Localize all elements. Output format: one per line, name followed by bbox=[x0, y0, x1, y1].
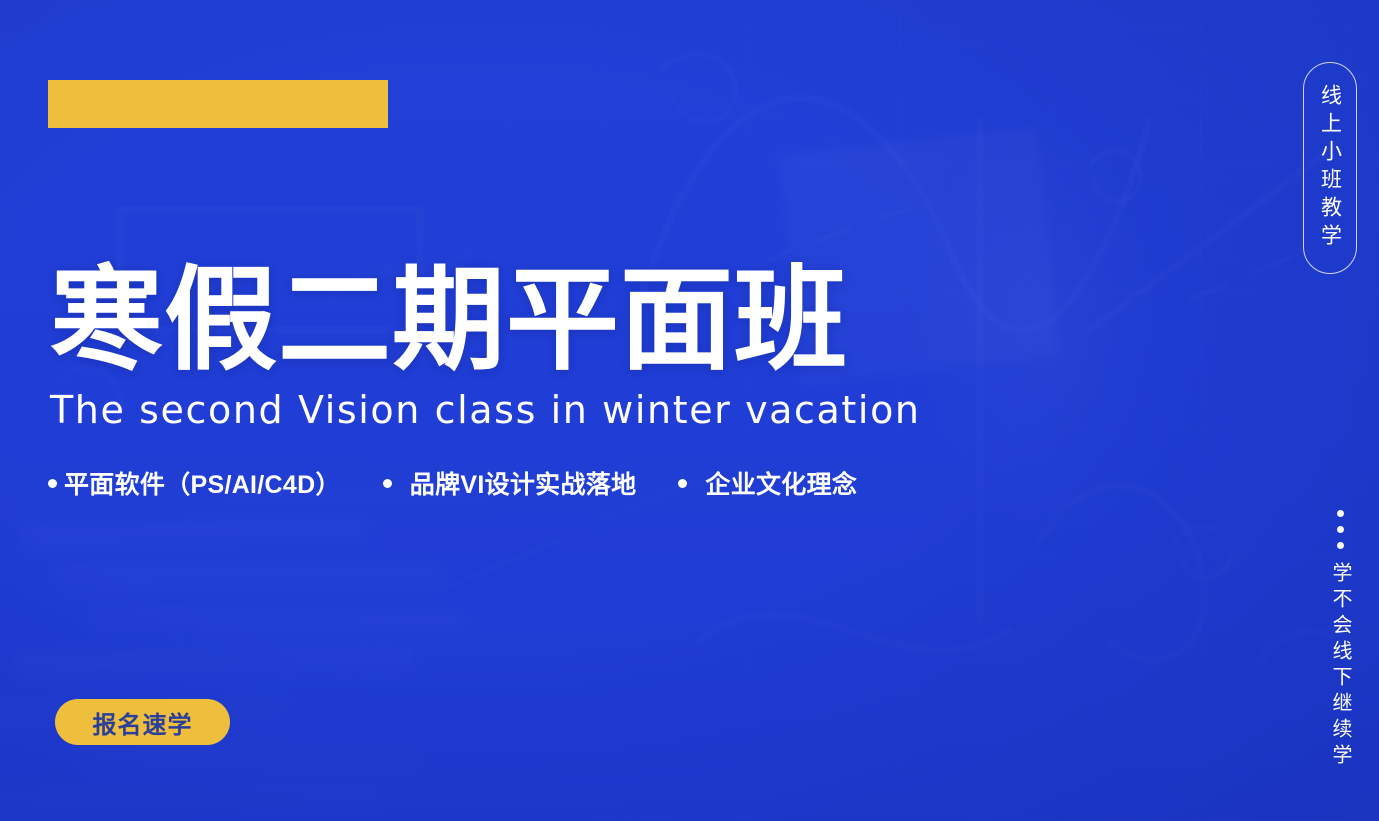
online-class-badge: 线上小班教学 bbox=[1303, 62, 1357, 274]
book-shape bbox=[0, 786, 380, 815]
page-title: 寒假二期平面班 bbox=[50, 262, 950, 380]
feature-list: 平面软件（PS/AI/C4D） 品牌VI设计实战落地 企业文化理念 bbox=[48, 465, 857, 501]
book-shape bbox=[90, 608, 470, 637]
guarantee-slogan-label: 学不会线下继续学 bbox=[1330, 562, 1350, 770]
feature-item-software: 平面软件（PS/AI/C4D） bbox=[48, 465, 341, 501]
online-class-badge-label: 线上小班教学 bbox=[1320, 84, 1341, 252]
feature-item-brand-vi: 品牌VI设计实战落地 bbox=[383, 465, 637, 501]
top-accent-bar bbox=[48, 80, 388, 128]
feature-label: 品牌VI设计实战落地 bbox=[410, 465, 637, 501]
poster-canvas: 寒假二期平面班 The second Vision class in winte… bbox=[0, 0, 1379, 821]
bullet-dot-icon bbox=[383, 479, 392, 488]
guarantee-slogan: 学不会线下继续学 bbox=[1330, 510, 1350, 770]
headline-block: 寒假二期平面班 The second Vision class in winte… bbox=[50, 262, 950, 432]
stacked-books-texture bbox=[0, 471, 580, 821]
book-shape bbox=[20, 517, 371, 554]
three-dots-icon bbox=[1337, 510, 1344, 549]
book-shape bbox=[55, 563, 445, 595]
feature-label: 平面软件（PS/AI/C4D） bbox=[64, 465, 341, 501]
bullet-dot-icon bbox=[678, 479, 687, 488]
bullet-dot-icon bbox=[48, 479, 57, 488]
book-shape bbox=[15, 646, 415, 682]
feature-label: 企业文化理念 bbox=[705, 465, 857, 501]
enroll-button[interactable]: 报名速学 bbox=[55, 699, 230, 745]
page-subtitle: The second Vision class in winter vacati… bbox=[50, 388, 950, 432]
feature-item-culture: 企业文化理念 bbox=[678, 465, 857, 501]
